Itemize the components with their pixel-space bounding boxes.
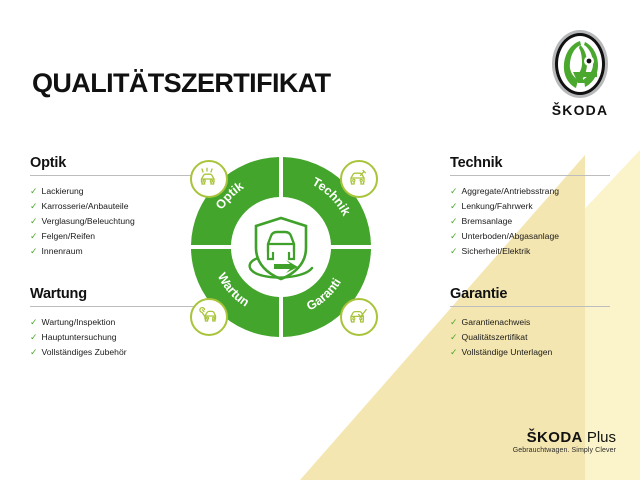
list-item-label: Vollständige Unterlagen <box>462 345 553 360</box>
footer-wordmark: ŠKODA Plus <box>513 429 616 446</box>
section-optik-list: ✓Lackierung ✓Karrosserie/Anbauteile ✓Ver… <box>30 184 202 259</box>
shield-car-orbit-icon <box>237 203 325 291</box>
list-item: ✓Felgen/Reifen <box>30 229 202 244</box>
list-item-label: Lackierung <box>42 184 84 199</box>
check-icon: ✓ <box>30 232 38 241</box>
skoda-winged-arrow-emblem <box>551 28 609 100</box>
check-icon: ✓ <box>450 247 458 256</box>
list-item: ✓Karrosserie/Anbauteile <box>30 199 202 214</box>
list-item-label: Vollständiges Zubehör <box>42 345 127 360</box>
section-optik: Optik ✓Lackierung ✓Karrosserie/Anbauteil… <box>30 155 202 259</box>
list-item-label: Lenkung/Fahrwerk <box>462 199 533 214</box>
list-item-label: Innenraum <box>42 244 83 259</box>
list-item: ✓Garantienachweis <box>450 315 630 330</box>
list-item: ✓Unterboden/Abgasanlage <box>450 229 630 244</box>
list-item: ✓Vollständiges Zubehör <box>30 345 202 360</box>
section-garantie-list: ✓Garantienachweis ✓Qualitätszertifikat ✓… <box>450 315 630 360</box>
check-icon: ✓ <box>30 333 38 342</box>
list-item-label: Bremsanlage <box>462 214 513 229</box>
section-wartung: Wartung ✓Wartung/Inspektion ✓Hauptunters… <box>30 286 202 360</box>
badge-wartung <box>190 298 228 336</box>
list-item: ✓Innenraum <box>30 244 202 259</box>
list-item: ✓Bremsanlage <box>450 214 630 229</box>
check-icon: ✓ <box>450 202 458 211</box>
check-icon: ✓ <box>30 187 38 196</box>
check-icon: ✓ <box>30 247 38 256</box>
car-shine-icon <box>197 167 221 191</box>
list-item-label: Wartung/Inspektion <box>42 315 116 330</box>
check-icon: ✓ <box>450 232 458 241</box>
footer-skoda-text: ŠKODA <box>527 429 583 446</box>
list-item-label: Aggregate/Antriebsstrang <box>462 184 559 199</box>
check-icon: ✓ <box>30 202 38 211</box>
check-icon: ✓ <box>450 333 458 342</box>
list-item: ✓Verglasung/Beleuchtung <box>30 214 202 229</box>
section-garantie-divider <box>450 306 610 307</box>
section-technik-heading: Technik <box>450 155 630 171</box>
list-item-label: Verglasung/Beleuchtung <box>42 214 135 229</box>
list-item-label: Karrosserie/Anbauteile <box>42 199 129 214</box>
check-icon: ✓ <box>450 187 458 196</box>
list-item-label: Felgen/Reifen <box>42 229 96 244</box>
car-engine-icon <box>347 167 371 191</box>
list-item-label: Qualitätszertifikat <box>462 330 528 345</box>
list-item: ✓Sicherheit/Elektrik <box>450 244 630 259</box>
check-icon: ✓ <box>450 348 458 357</box>
section-optik-divider <box>30 175 208 176</box>
badge-garantie <box>340 298 378 336</box>
certificate-page: QUALITÄTSZERTIFIKAT ŠKODA Optik ✓Lackier… <box>0 0 640 480</box>
section-garantie-heading: Garantie <box>450 286 630 302</box>
check-icon: ✓ <box>450 217 458 226</box>
skoda-logo: ŠKODA <box>542 28 618 118</box>
list-item: ✓Wartung/Inspektion <box>30 315 202 330</box>
footer-plus-text: Plus <box>587 429 616 446</box>
list-item-label: Sicherheit/Elektrik <box>462 244 531 259</box>
section-wartung-divider <box>30 306 208 307</box>
list-item-label: Hauptuntersuchung <box>42 330 117 345</box>
car-wrench-icon <box>197 305 221 329</box>
section-optik-heading: Optik <box>30 155 202 171</box>
check-icon: ✓ <box>30 217 38 226</box>
skoda-plus-lockup: ŠKODA Plus Gebrauchtwagen. Simply Clever <box>513 429 616 454</box>
list-item: ✓Hauptuntersuchung <box>30 330 202 345</box>
section-garantie: Garantie ✓Garantienachweis ✓Qualitätszer… <box>450 286 630 360</box>
badge-optik <box>190 160 228 198</box>
check-icon: ✓ <box>450 318 458 327</box>
footer-tagline: Gebrauchtwagen. Simply Clever <box>513 447 616 454</box>
section-technik-list: ✓Aggregate/Antriebsstrang ✓Lenkung/Fahrw… <box>450 184 630 259</box>
list-item: ✓Lackierung <box>30 184 202 199</box>
car-check-icon <box>347 305 371 329</box>
section-wartung-heading: Wartung <box>30 286 202 302</box>
badge-technik <box>340 160 378 198</box>
list-item-label: Unterboden/Abgasanlage <box>462 229 559 244</box>
section-technik: Technik ✓Aggregate/Antriebsstrang ✓Lenku… <box>450 155 630 259</box>
skoda-wordmark: ŠKODA <box>542 102 618 118</box>
check-icon: ✓ <box>30 318 38 327</box>
check-icon: ✓ <box>30 348 38 357</box>
list-item: ✓Vollständige Unterlagen <box>450 345 630 360</box>
list-item-label: Garantienachweis <box>462 315 531 330</box>
list-item: ✓Aggregate/Antriebsstrang <box>450 184 630 199</box>
list-item: ✓Lenkung/Fahrwerk <box>450 199 630 214</box>
section-wartung-list: ✓Wartung/Inspektion ✓Hauptuntersuchung ✓… <box>30 315 202 360</box>
page-title: QUALITÄTSZERTIFIKAT <box>32 68 331 99</box>
section-technik-divider <box>450 175 610 176</box>
list-item: ✓Qualitätszertifikat <box>450 330 630 345</box>
